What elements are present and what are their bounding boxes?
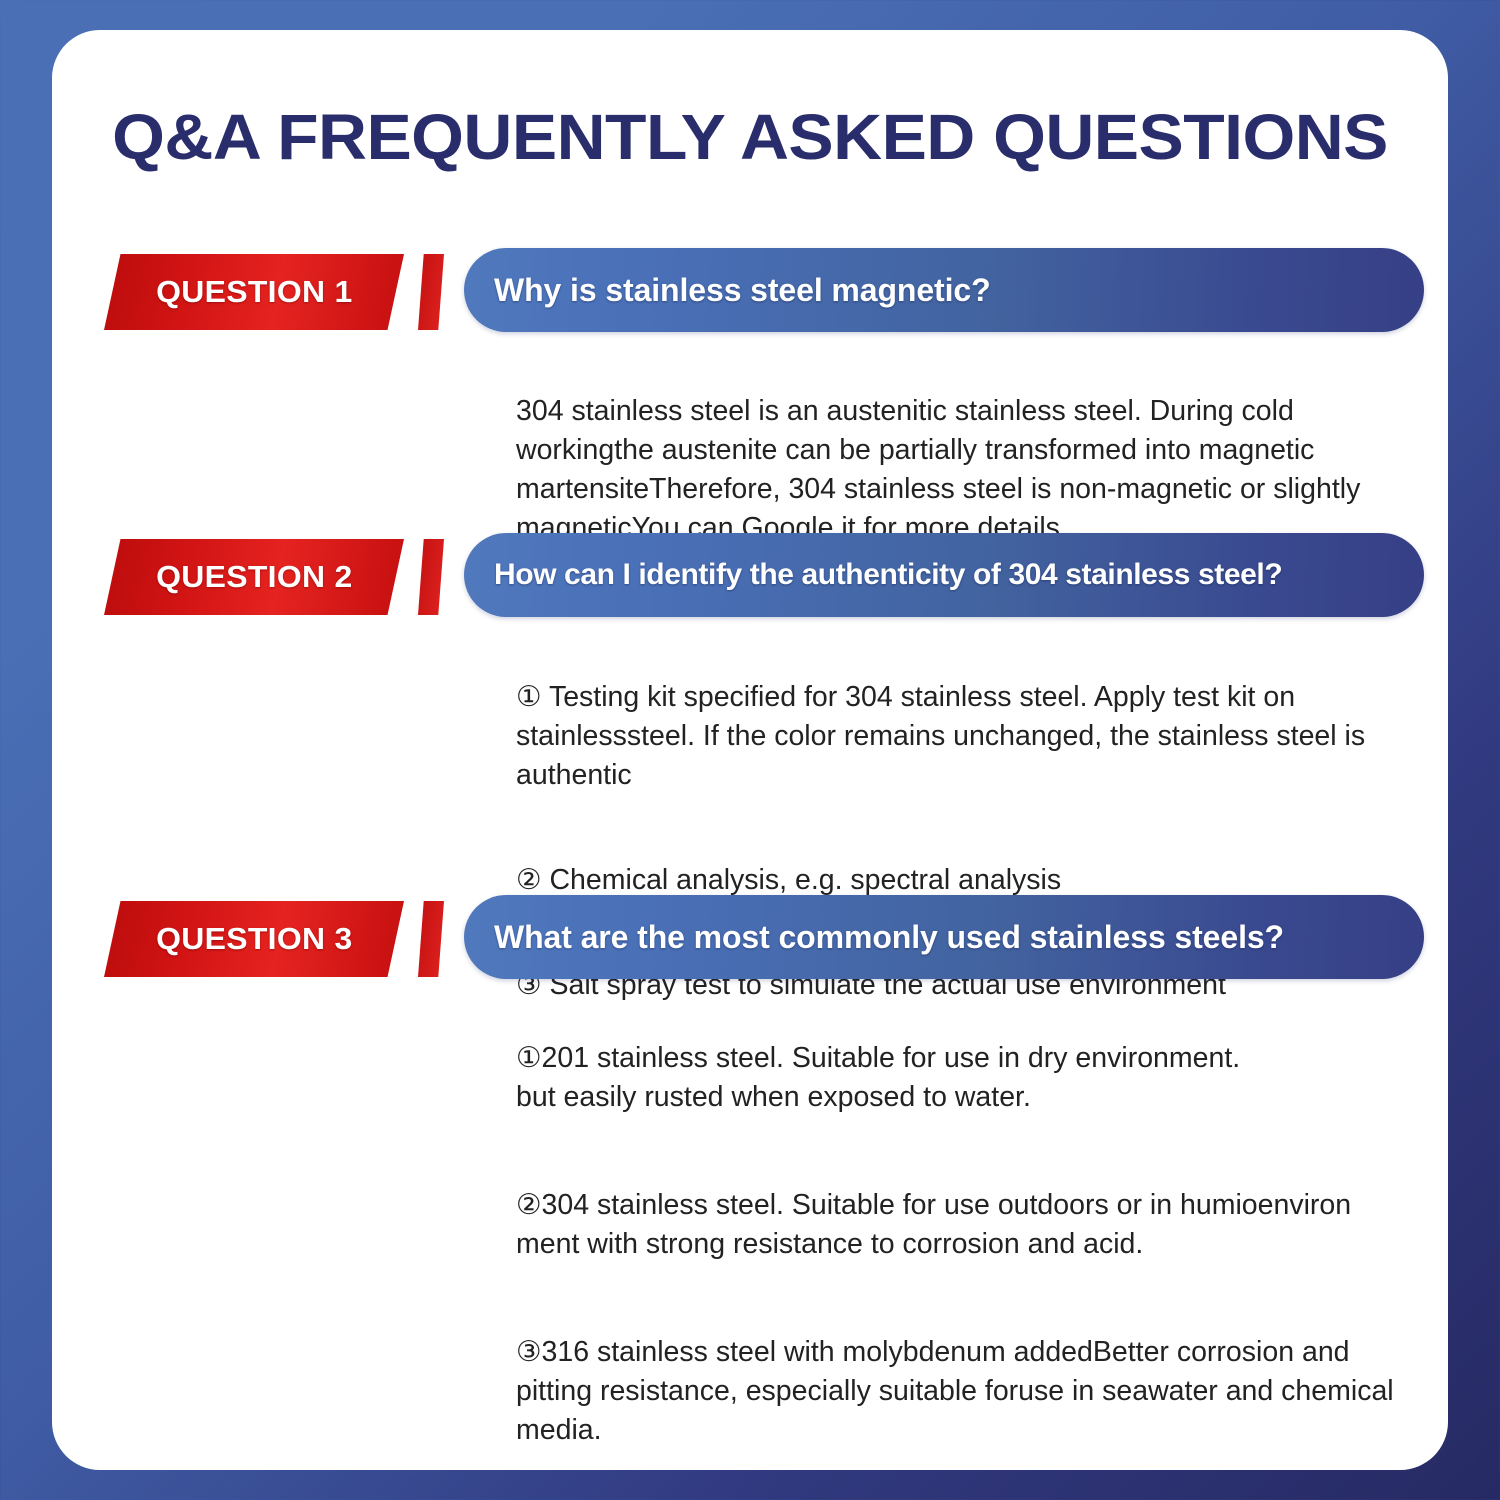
slash-divider-icon xyxy=(418,901,444,977)
question-heading-pill-2: How can I identify the authenticity of 3… xyxy=(464,533,1424,617)
question-heading-label: Why is stainless steel magnetic? xyxy=(464,272,1013,309)
answer-body-3: ①201 stainless steel. Suitable for use i… xyxy=(516,1000,1426,1500)
question-header-2: QUESTION 2 How can I identify the authen… xyxy=(0,533,1500,619)
question-tag-1: QUESTION 1 xyxy=(104,254,404,330)
question-header-1: QUESTION 1 Why is stainless steel magnet… xyxy=(0,248,1500,334)
question-tag-label: QUESTION 1 xyxy=(156,274,352,310)
question-header-3: QUESTION 3 What are the most commonly us… xyxy=(0,895,1500,981)
answer-paragraph: ① Testing kit specified for 304 stainles… xyxy=(516,678,1426,795)
question-tag-label: QUESTION 2 xyxy=(156,559,352,595)
answer-paragraph: ②304 stainless steel. Suitable for use o… xyxy=(516,1186,1426,1264)
question-heading-label: What are the most commonly used stainles… xyxy=(464,919,1306,956)
question-heading-pill-1: Why is stainless steel magnetic? xyxy=(464,248,1424,332)
question-heading-pill-3: What are the most commonly used stainles… xyxy=(464,895,1424,979)
slash-divider-icon xyxy=(418,254,444,330)
question-tag-2: QUESTION 2 xyxy=(104,539,404,615)
question-block-1: QUESTION 1 Why is stainless steel magnet… xyxy=(0,248,1500,334)
page-title: Q&A FREQUENTLY ASKED QUESTIONS xyxy=(0,100,1500,174)
question-block-2: QUESTION 2 How can I identify the authen… xyxy=(0,533,1500,619)
answer-paragraph: ①201 stainless steel. Suitable for use i… xyxy=(516,1039,1426,1117)
question-block-3: QUESTION 3 What are the most commonly us… xyxy=(0,895,1500,981)
question-heading-label: How can I identify the authenticity of 3… xyxy=(464,558,1304,592)
question-tag-3: QUESTION 3 xyxy=(104,901,404,977)
answer-paragraph: 304 stainless steel is an austenitic sta… xyxy=(516,392,1426,548)
answer-paragraph: ③316 stainless steel with molybdenum add… xyxy=(516,1333,1426,1450)
faq-page: Q&A FREQUENTLY ASKED QUESTIONS QUESTION … xyxy=(0,0,1500,1500)
question-tag-label: QUESTION 3 xyxy=(156,921,352,957)
answer-body-2: ① Testing kit specified for 304 stainles… xyxy=(516,639,1426,1044)
slash-divider-icon xyxy=(418,539,444,615)
